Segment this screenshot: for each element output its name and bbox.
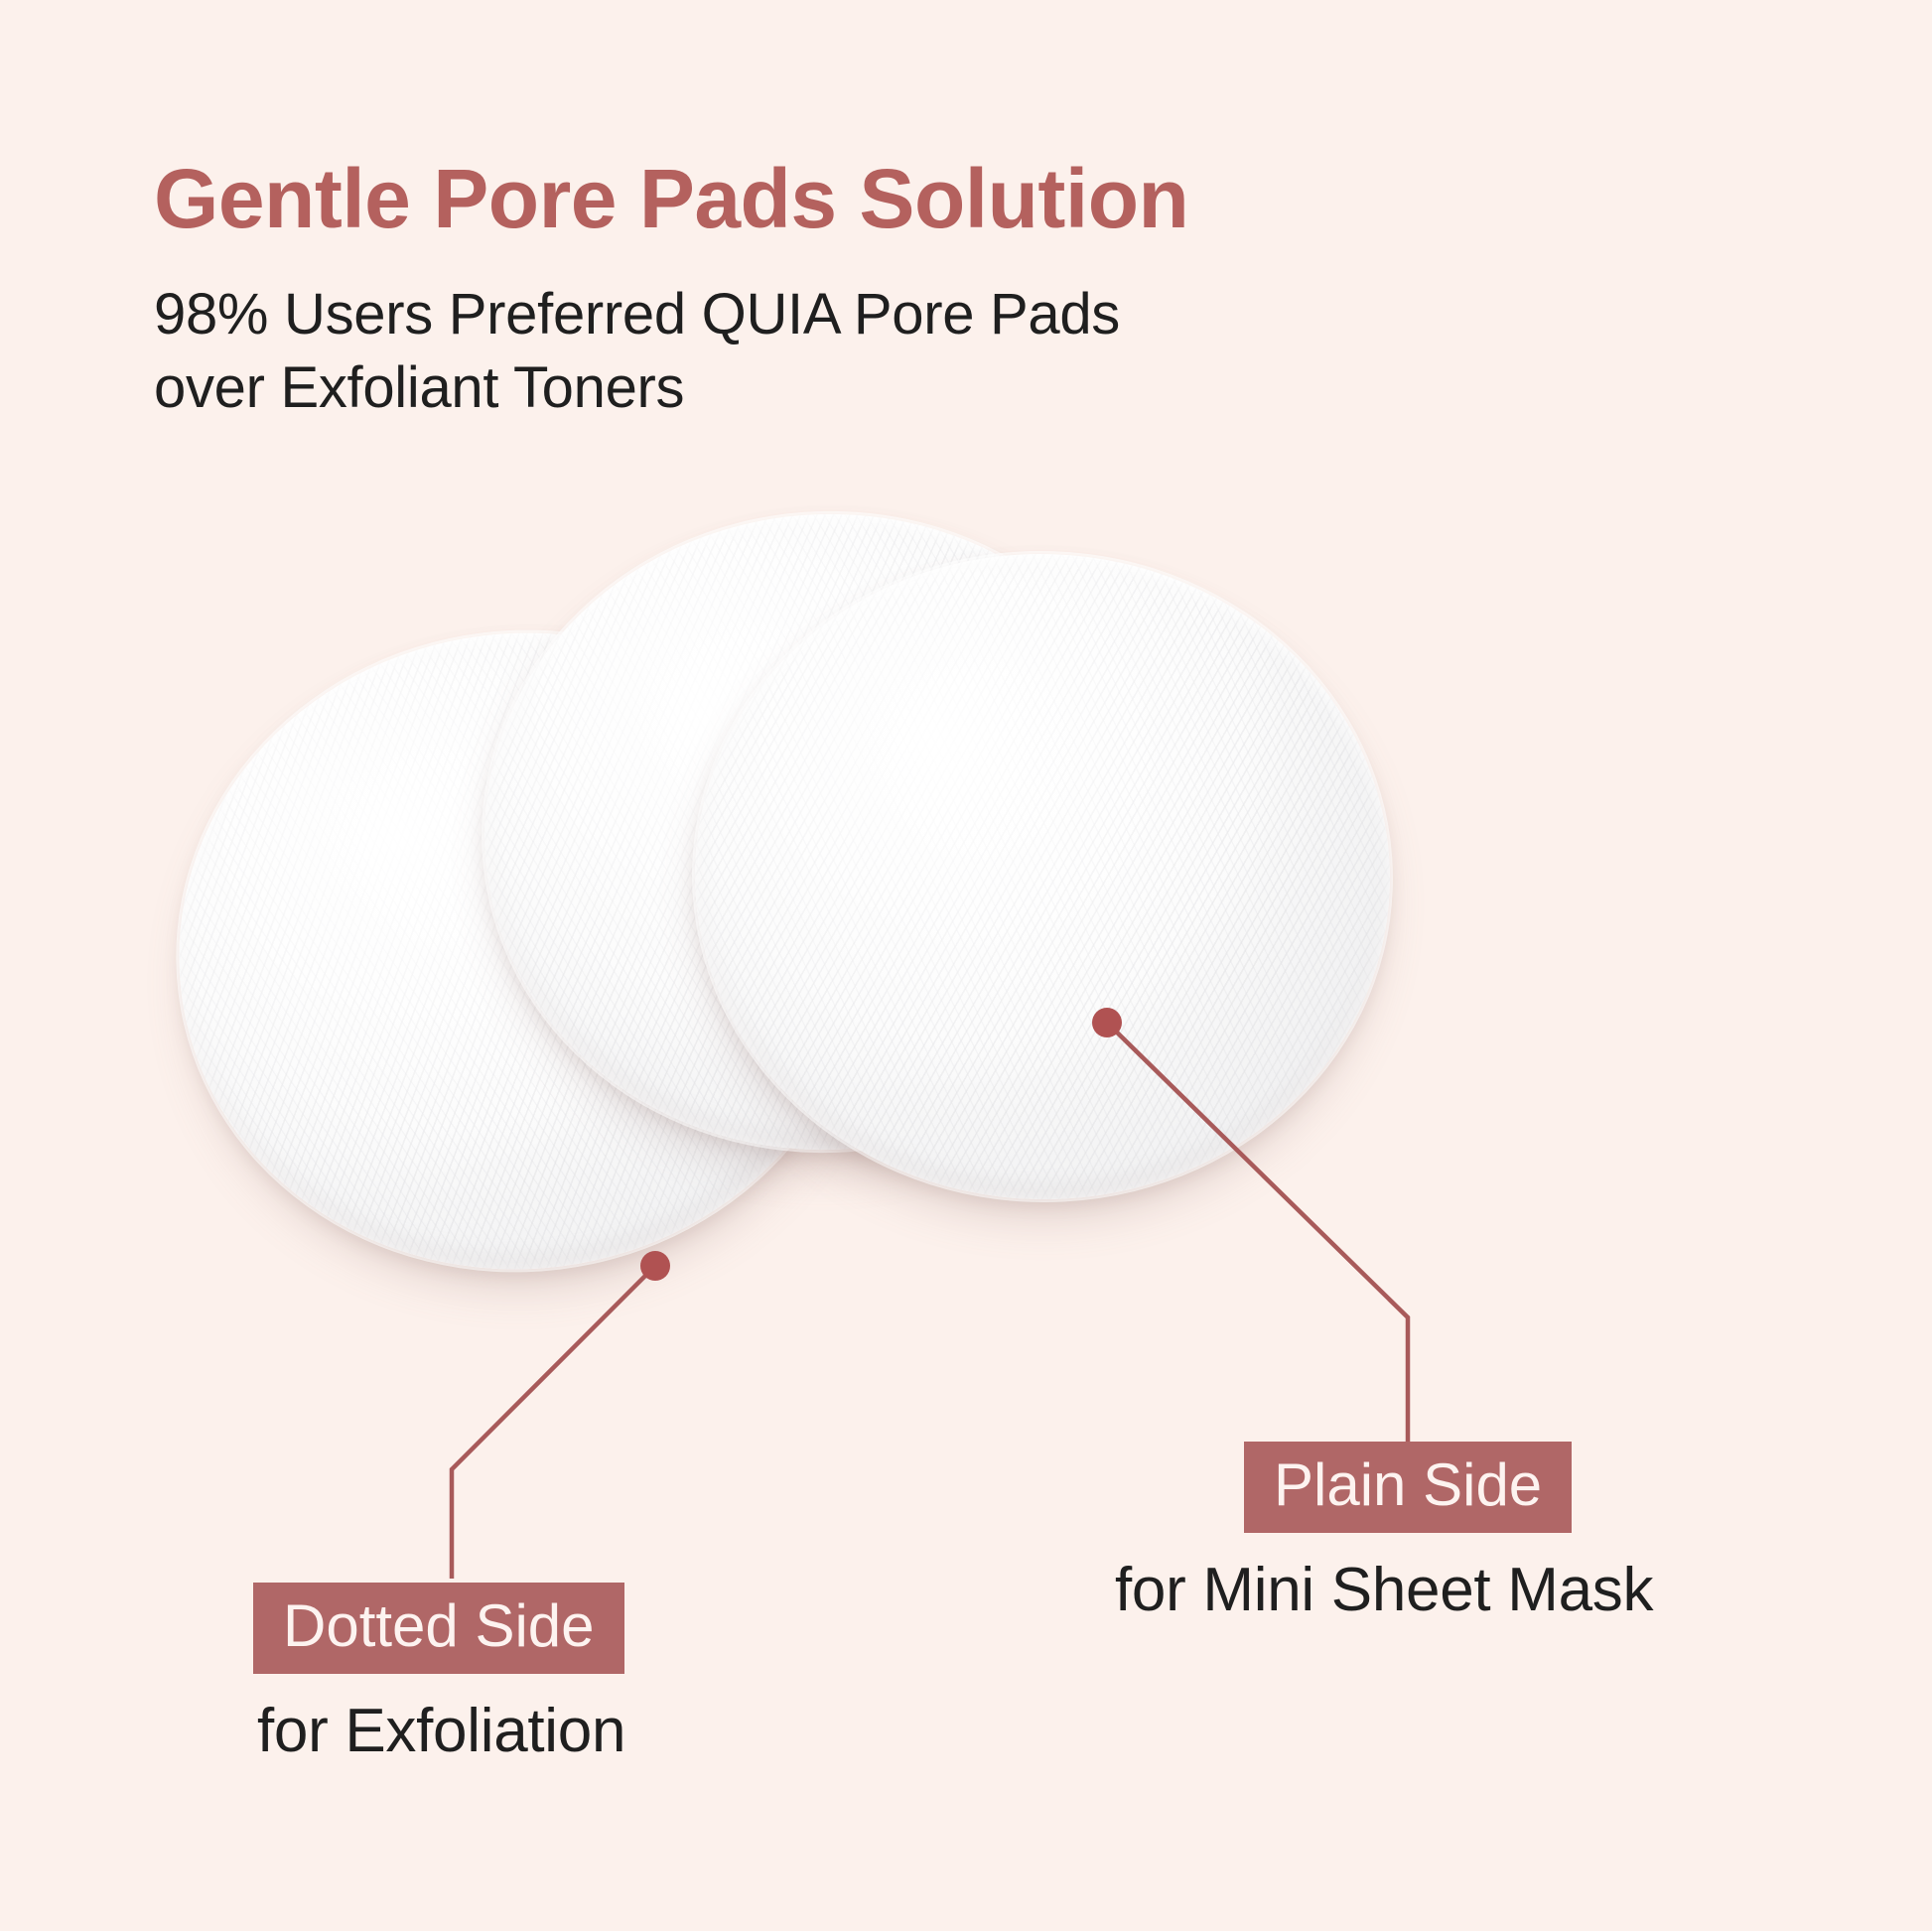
subtitle-line-2: over Exfoliant Toners <box>154 351 1742 425</box>
callout-dotted-side: Dotted Side for Exfoliation <box>253 1583 625 1766</box>
subtitle: 98% Users Preferred QUIA Pore Pads over … <box>154 278 1742 425</box>
callout-plain-side: Plain Side for Mini Sheet Mask <box>1244 1442 1653 1625</box>
product-image <box>0 467 1932 1261</box>
header-block: Gentle Pore Pads Solution 98% Users Pref… <box>154 157 1742 425</box>
leader-line-dotted <box>452 1266 655 1579</box>
caption-dotted-side: for Exfoliation <box>257 1696 625 1766</box>
subtitle-line-1: 98% Users Preferred QUIA Pore Pads <box>154 278 1742 351</box>
badge-dotted-side: Dotted Side <box>253 1583 624 1674</box>
page-title: Gentle Pore Pads Solution <box>154 157 1742 240</box>
caption-plain-side: for Mini Sheet Mask <box>1115 1555 1653 1625</box>
infographic-canvas: Gentle Pore Pads Solution 98% Users Pref… <box>0 0 1932 1931</box>
badge-plain-side: Plain Side <box>1244 1442 1572 1533</box>
